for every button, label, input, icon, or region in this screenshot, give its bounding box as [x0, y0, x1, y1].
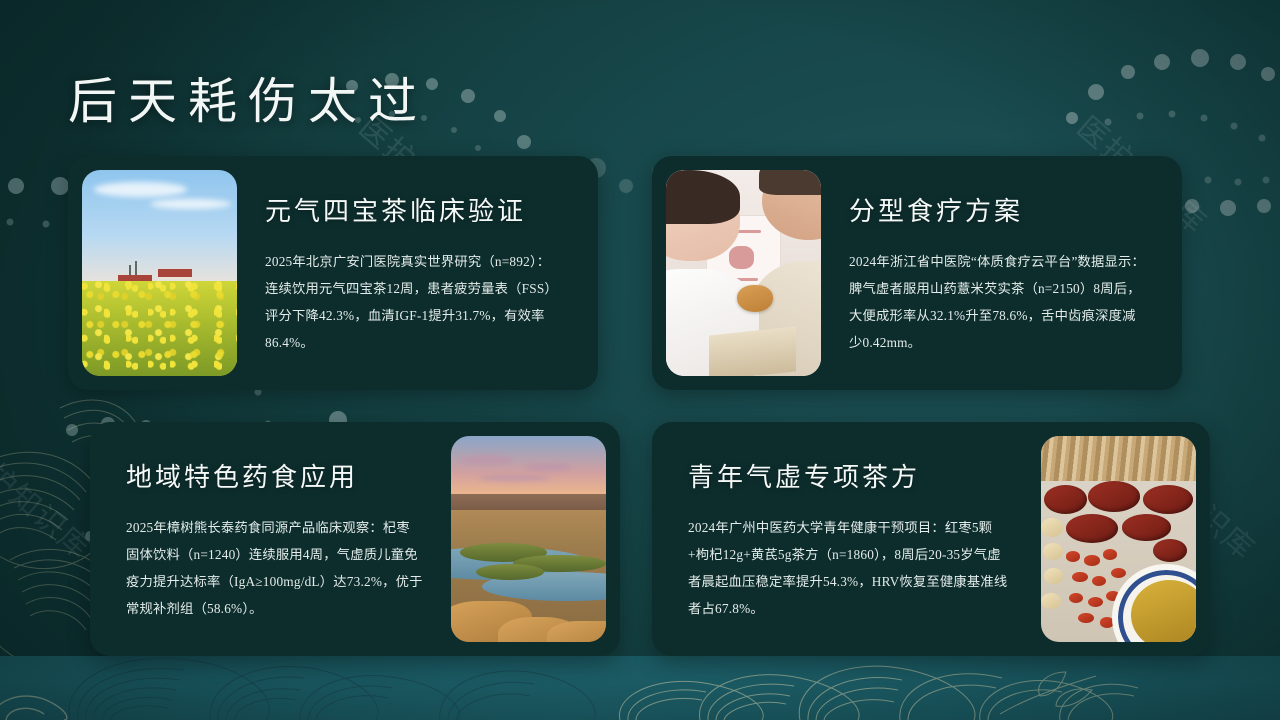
herbal-ingredients-photo: [1041, 436, 1196, 642]
card-1-image: [82, 170, 237, 376]
card-4-heading: 青年气虚专项茶方: [688, 464, 1013, 493]
card-1-heading: 元气四宝茶临床验证: [265, 198, 562, 227]
practitioner-photo: [666, 170, 821, 376]
watermark: 医护知识库: [0, 430, 103, 568]
slide-canvas: 医护知识库 医护知识库 医护知识库 医护知识库 医护知识库 后天耗伤太过: [0, 0, 1280, 720]
card-4-image: [1041, 436, 1196, 642]
page-title: 后天耗伤太过: [68, 62, 428, 133]
info-card-1[interactable]: 元气四宝茶临床验证 2025年北京广安门医院真实世界研究（n=892）：连续饮用…: [68, 156, 598, 390]
card-2-body: 2024年浙江省中医院“体质食疗云平台”数据显示：脾气虚者服用山药薏米芡实茶（n…: [849, 249, 1146, 357]
info-card-2[interactable]: 分型食疗方案 2024年浙江省中医院“体质食疗云平台”数据显示：脾气虚者服用山药…: [652, 156, 1182, 390]
card-3-heading: 地域特色药食应用: [126, 464, 423, 493]
river-valley-photo: [451, 436, 606, 642]
bottom-decorative-band: [0, 656, 1280, 720]
card-1-body: 2025年北京广安门医院真实世界研究（n=892）：连续饮用元气四宝茶12周，患…: [265, 249, 562, 357]
info-card-4[interactable]: 青年气虚专项茶方 2024年广州中医药大学青年健康干预项目：红枣5颗+枸杞12g…: [652, 422, 1210, 656]
bottom-band-lineart: [0, 656, 1280, 720]
info-card-3[interactable]: 地域特色药食应用 2025年樟树熊长泰药食同源产品临床观察：杞枣固体饮料（n=1…: [90, 422, 620, 656]
card-2-heading: 分型食疗方案: [849, 198, 1146, 227]
card-4-body: 2024年广州中医药大学青年健康干预项目：红枣5颗+枸杞12g+黄芪5g茶方（n…: [688, 515, 1013, 623]
card-3-body: 2025年樟树熊长泰药食同源产品临床观察：杞枣固体饮料（n=1240）连续服用4…: [126, 515, 423, 623]
card-2-image: [666, 170, 821, 376]
card-3-image: [451, 436, 606, 642]
rapeseed-field-photo: [82, 170, 237, 376]
